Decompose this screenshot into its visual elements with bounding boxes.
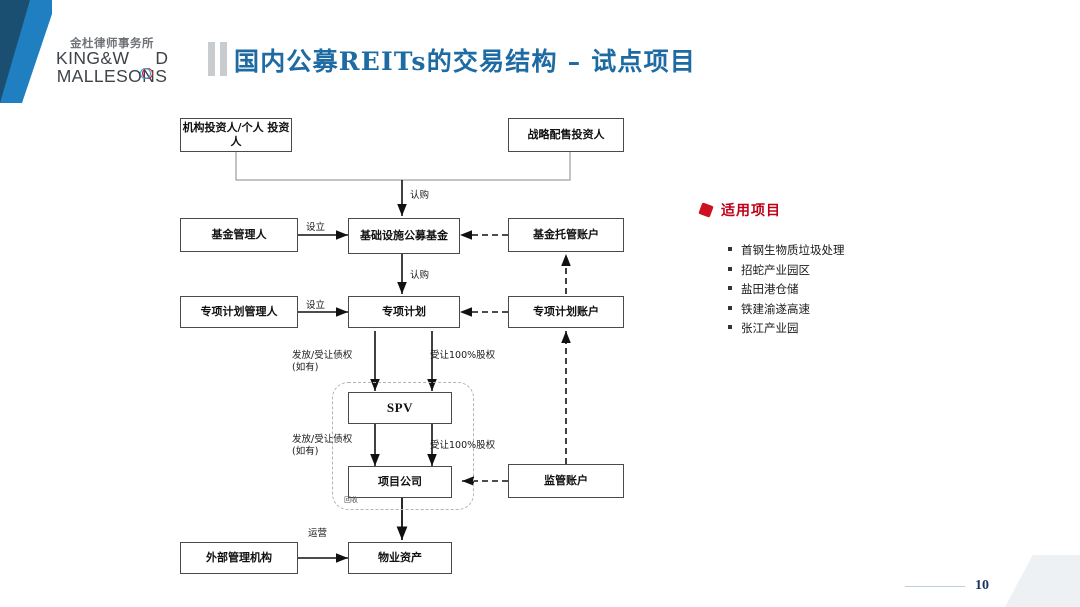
- list-item[interactable]: 招蛇产业园区: [728, 262, 845, 278]
- square-bullet-icon: [728, 325, 732, 329]
- square-bullet-icon: [728, 267, 732, 271]
- red-bullet-icon: [698, 202, 713, 217]
- edge-label-establish-fund: 设立: [306, 222, 325, 234]
- edge-label-loan-claim-2: 发放/受让债权 (如有): [292, 434, 352, 459]
- node-strategic-investors[interactable]: 战略配售投资人: [508, 118, 624, 152]
- panel-title: 适用项目: [721, 200, 781, 220]
- edge-label-subscribe-mid: 认购: [410, 270, 429, 282]
- list-item[interactable]: 盐田港仓储: [728, 281, 845, 297]
- square-bullet-icon: [728, 286, 732, 290]
- list-item[interactable]: 铁建渝遂高速: [728, 301, 845, 317]
- node-fund-custody-account[interactable]: 基金托管账户: [508, 218, 624, 252]
- group-label: 回收: [344, 495, 358, 505]
- edge-label-operate: 运营: [308, 528, 327, 540]
- square-bullet-icon: [728, 247, 732, 251]
- node-fund-manager[interactable]: 基金管理人: [180, 218, 298, 252]
- list-item[interactable]: 首钢生物质垃圾处理: [728, 242, 845, 258]
- edge-label-establish-abs: 设立: [306, 300, 325, 312]
- node-abs-plan-account[interactable]: 专项计划账户: [508, 296, 624, 328]
- list-item-label: 铁建渝遂高速: [741, 301, 810, 317]
- node-spv[interactable]: SPV: [348, 392, 452, 424]
- applicable-projects-list: 首钢生物质垃圾处理 招蛇产业园区 盐田港仓储 铁建渝遂高速 张江产业园: [728, 242, 845, 340]
- square-bullet-icon: [728, 306, 732, 310]
- node-public-fund[interactable]: 基础设施公募基金: [348, 218, 460, 254]
- node-project-company[interactable]: 项目公司: [348, 466, 452, 498]
- list-item-label: 招蛇产业园区: [741, 262, 810, 278]
- node-abs-plan[interactable]: 专项计划: [348, 296, 460, 328]
- page-number: 10: [975, 578, 989, 594]
- list-item-label: 盐田港仓储: [741, 281, 799, 297]
- node-external-manager[interactable]: 外部管理机构: [180, 542, 298, 574]
- panel-heading: 适用项目: [700, 200, 781, 220]
- edge-label-equity-1: 受让100%股权: [430, 350, 495, 362]
- slide-canvas: 金杜律师事务所 KING&WD MALLESONS 国内公募REITs的交易结构…: [0, 0, 1080, 607]
- node-supervision-account[interactable]: 监管账户: [508, 464, 624, 498]
- node-property-assets[interactable]: 物业资产: [348, 542, 452, 574]
- list-item[interactable]: 张江产业园: [728, 320, 845, 336]
- node-investors[interactable]: 机构投资人/个人 投资人: [180, 118, 292, 152]
- list-item-label: 张江产业园: [741, 320, 799, 336]
- node-abs-manager[interactable]: 专项计划管理人: [180, 296, 298, 328]
- list-item-label: 首钢生物质垃圾处理: [741, 242, 845, 258]
- edge-label-subscribe-top: 认购: [410, 190, 429, 202]
- edge-label-loan-claim-1: 发放/受让债权 (如有): [292, 350, 352, 375]
- edge-label-equity-2: 受让100%股权: [430, 440, 495, 452]
- footer-rule: [905, 586, 965, 587]
